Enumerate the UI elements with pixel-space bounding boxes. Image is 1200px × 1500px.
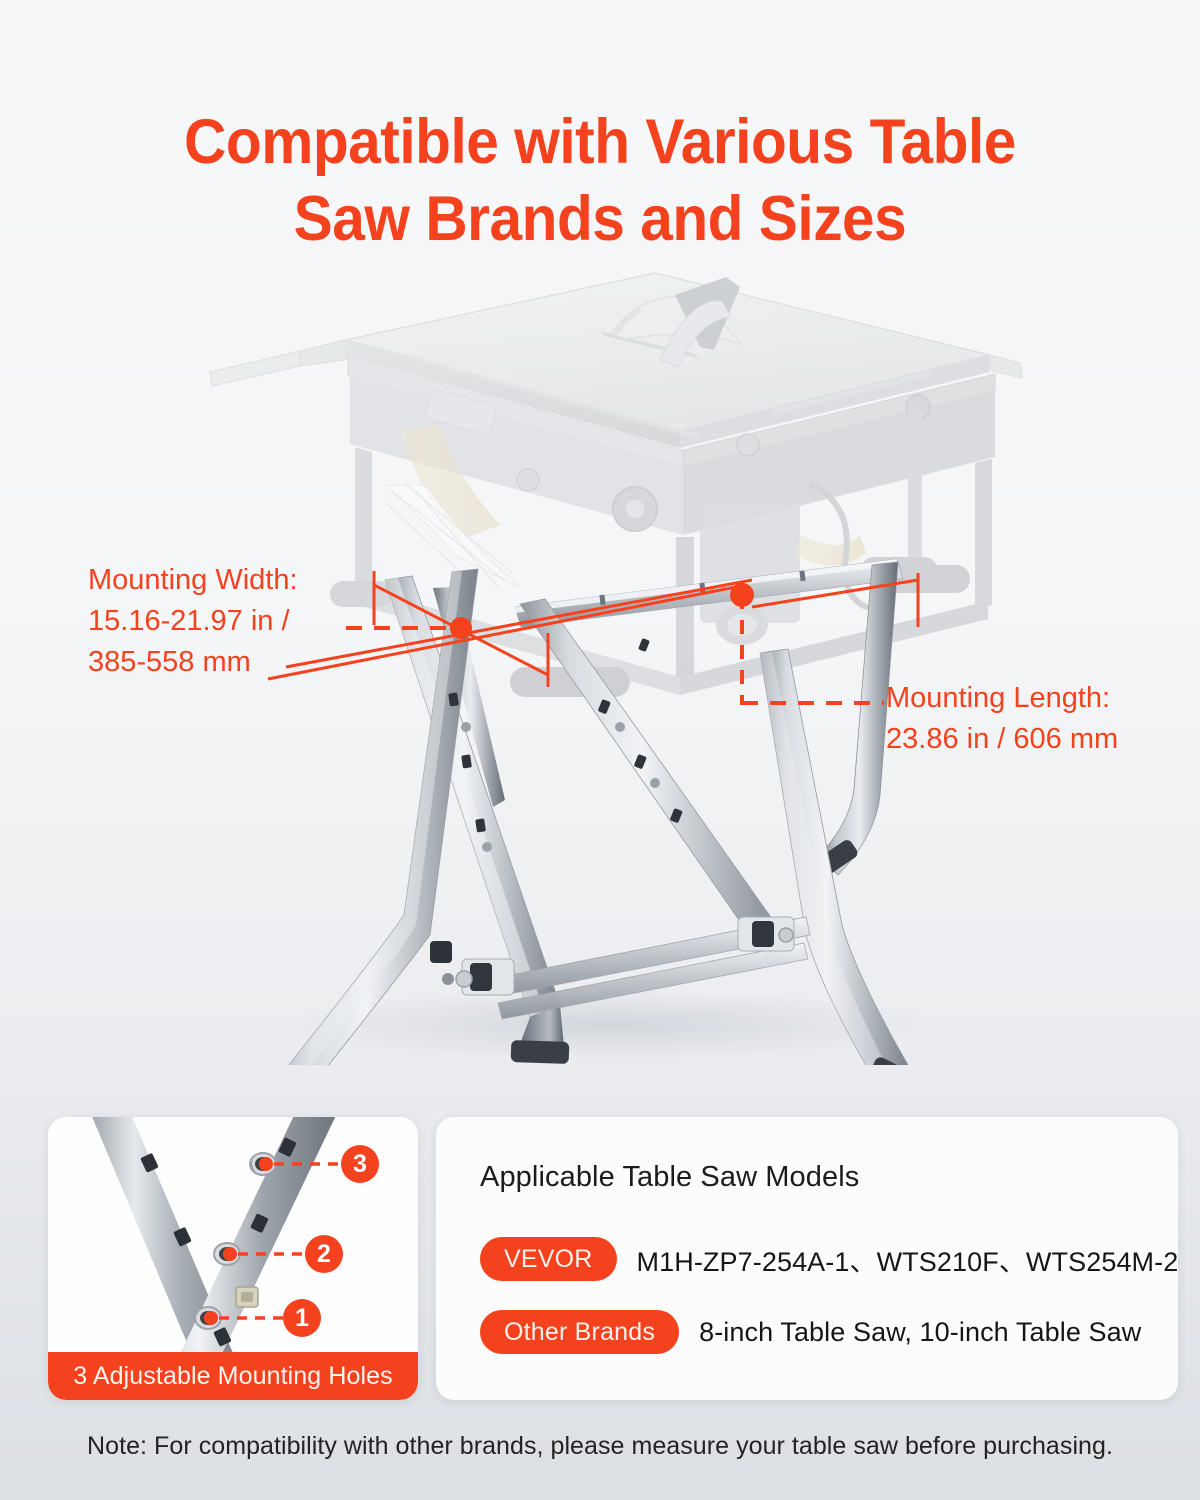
model-row-other-brands: Other Brands 8-inch Table Saw, 10-inch T… [480, 1310, 1178, 1354]
mounting-holes-card: 3 2 1 3 Adjustable Mounting Holes [48, 1117, 418, 1400]
saw-stand [270, 559, 930, 1065]
bottom-cards: 3 2 1 3 Adjustable Mounting Holes Applic… [48, 1117, 1152, 1400]
pivot-bracket-left [430, 941, 514, 995]
mounting-width-label: Mounting Width: 15.16-21.97 in / 385-558… [88, 560, 298, 684]
callout-number-3: 3 [353, 1150, 367, 1178]
callout-number-2: 2 [317, 1240, 331, 1268]
footer-note: Note: For compatibility with other brand… [0, 1432, 1200, 1461]
bolt-hardware [236, 1287, 258, 1307]
brand-pill-other-brands: Other Brands [480, 1310, 679, 1354]
mounting-length-label: Mounting Length: 23.86 in / 606 mm [886, 678, 1118, 760]
applicable-models-title: Applicable Table Saw Models [480, 1161, 1178, 1194]
brand-pill-vevor: VEVOR [480, 1237, 617, 1281]
model-list-vevor: M1H-ZP7-254A-1、WTS210F、WTS254M-2 [637, 1240, 1179, 1279]
mounting-holes-caption: 3 Adjustable Mounting Holes [48, 1352, 418, 1400]
page-title-line-1: Compatible with Various Table [42, 104, 1158, 181]
model-list-other-brands: 8-inch Table Saw, 10-inch Table Saw [699, 1317, 1141, 1348]
model-row-vevor: VEVOR M1H-ZP7-254A-1、WTS210F、WTS254M-2 [480, 1237, 1178, 1281]
pivot-bracket-right [738, 917, 794, 951]
callout-number-1: 1 [295, 1304, 309, 1332]
applicable-models-card: Applicable Table Saw Models VEVOR M1H-ZP… [436, 1117, 1178, 1400]
